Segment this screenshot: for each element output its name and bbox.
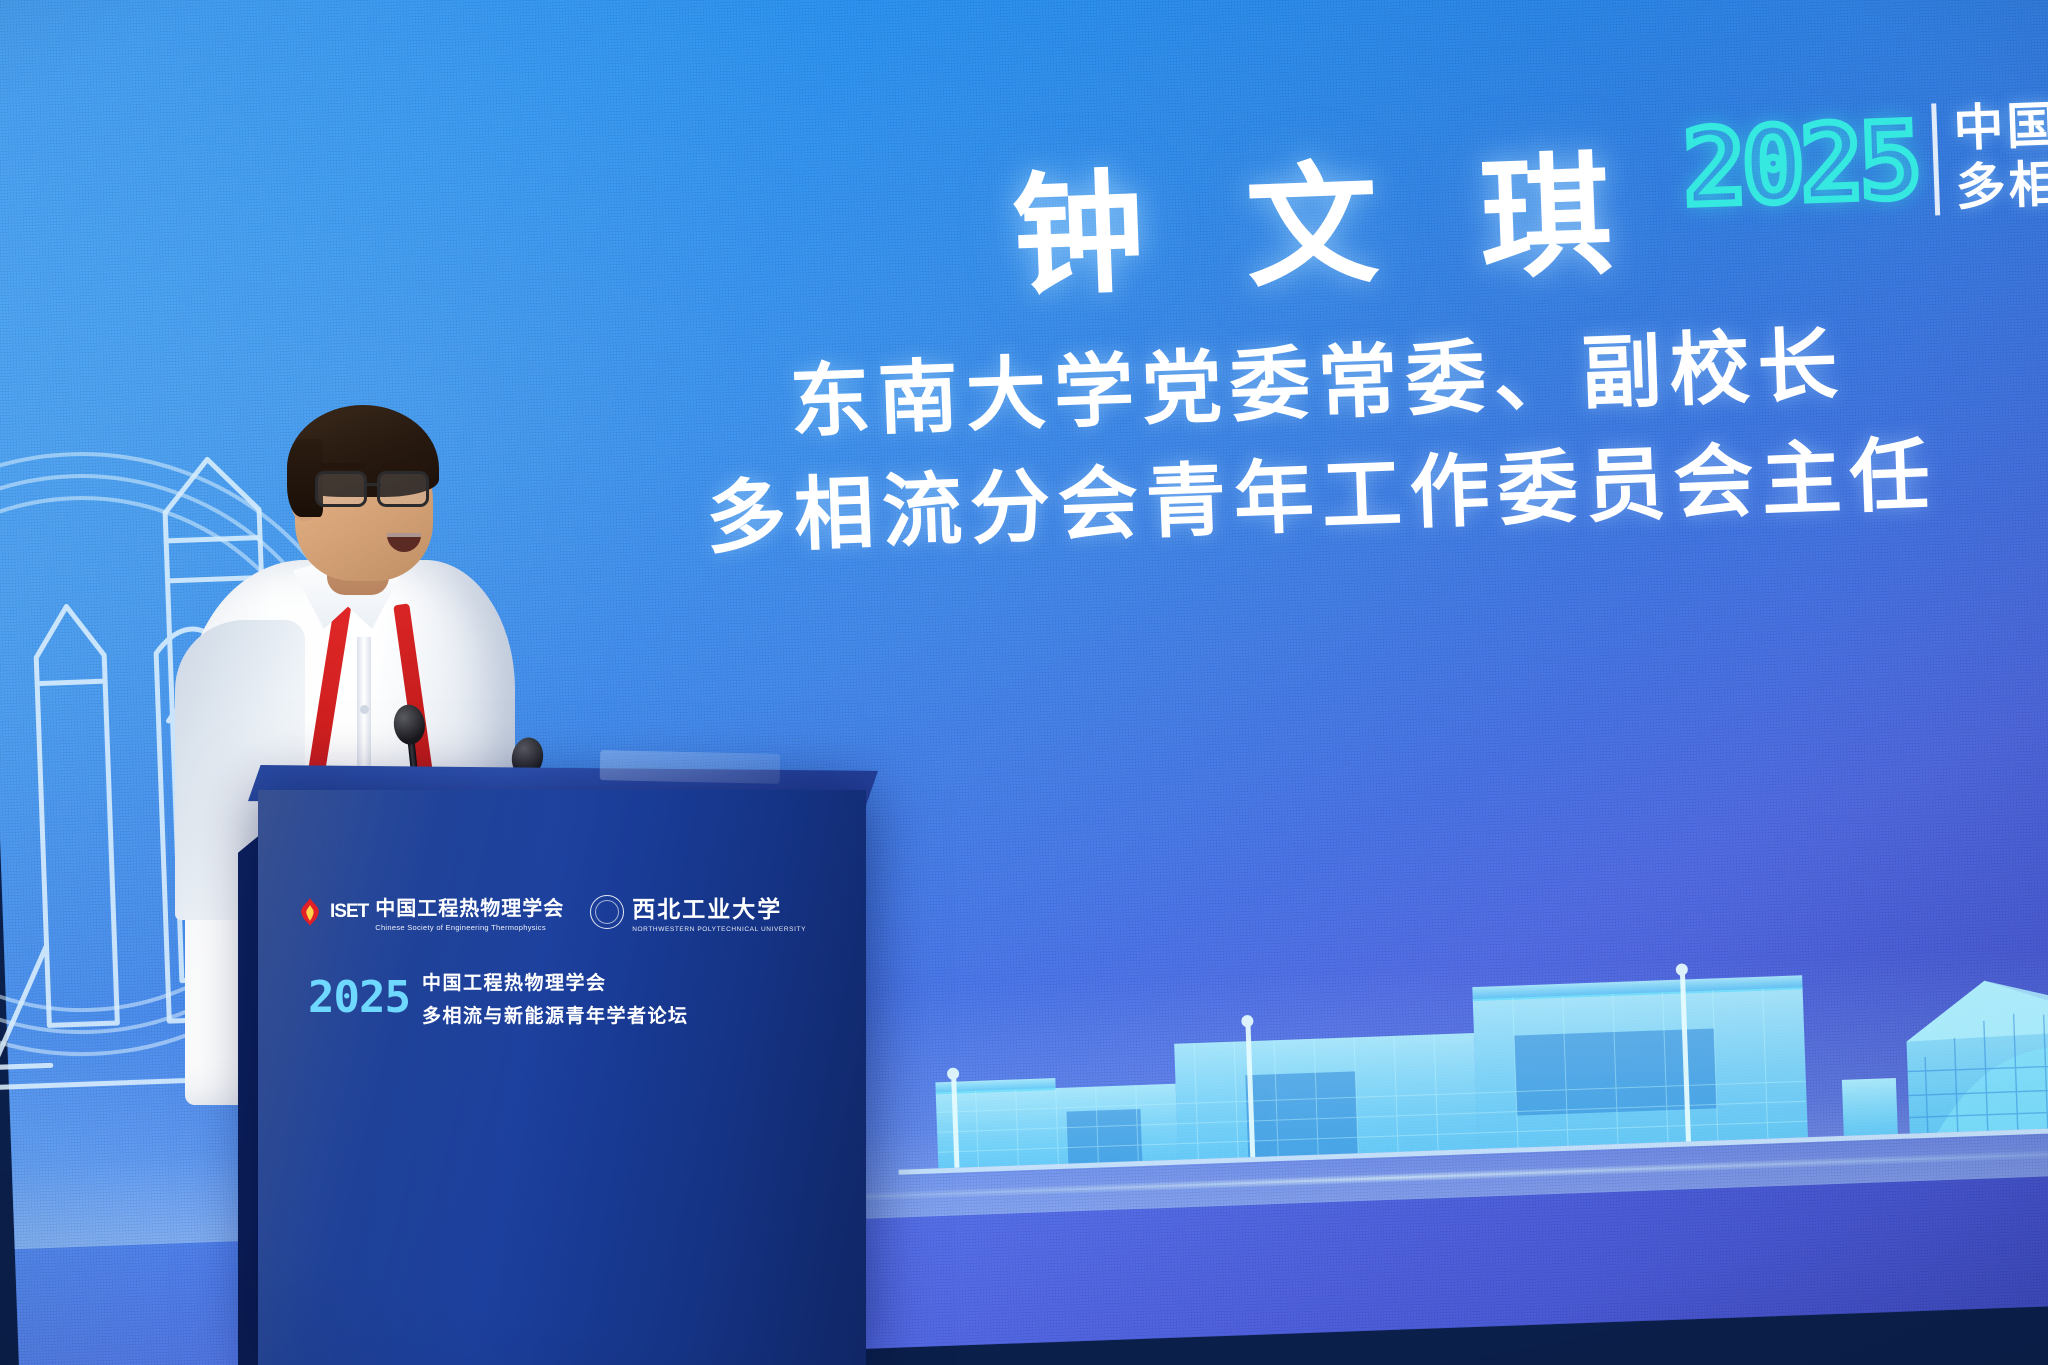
conference-photo-stage: 钟 文 琪 东南大学党委常委、副校长 多相流分会青年工作委员会主任 2025 中… xyxy=(0,0,2048,1365)
university-name-en: NORTHWESTERN POLYTECHNICAL UNIVERSITY xyxy=(632,926,806,933)
podium-front-panel: ISET 中国工程热物理学会 Chinese Society of Engine… xyxy=(258,790,866,1365)
wall-logo-org: 中国 多相 xyxy=(1952,96,2048,218)
flame-mark-icon xyxy=(298,898,323,926)
society-logo: ISET 中国工程热物理学会 Chinese Society of Engine… xyxy=(298,892,564,932)
shirt-button xyxy=(360,705,369,714)
forum-branding: 2025 中国工程热物理学会 多相流与新能源青年学者论坛 xyxy=(308,968,688,1028)
podium-logo-row: ISET 中国工程热物理学会 Chinese Society of Engine… xyxy=(298,890,828,933)
wall-logo-org-line-2: 多相 xyxy=(1954,155,2048,218)
society-names: 中国工程热物理学会 Chinese Society of Engineering… xyxy=(375,892,564,932)
forum-title-line-2: 多相流与新能源青年学者论坛 xyxy=(422,1001,689,1028)
society-name-cn: 中国工程热物理学会 xyxy=(375,892,564,921)
university-logo: 西北工业大学 NORTHWESTERN POLYTECHNICAL UNIVER… xyxy=(590,890,806,933)
forum-title-line-1: 中国工程热物理学会 xyxy=(422,968,689,995)
speaker-eyebrow xyxy=(383,463,427,469)
society-name-en: Chinese Society of Engineering Thermophy… xyxy=(375,923,564,932)
wall-logo-divider xyxy=(1931,103,1940,215)
forum-year: 2025 xyxy=(308,976,410,1020)
university-names: 西北工业大学 NORTHWESTERN POLYTECHNICAL UNIVER… xyxy=(632,890,806,933)
university-seal-icon xyxy=(590,895,624,929)
society-abbr: ISET xyxy=(330,901,368,923)
forum-title-group: 中国工程热物理学会 多相流与新能源青年学者论坛 xyxy=(422,968,689,1028)
wall-logo-year: 2025 xyxy=(1681,108,1919,220)
eyeglass-bridge xyxy=(365,483,381,486)
wall-corner-logo: 2025 中国 多相 xyxy=(1681,96,2048,227)
speaker-eyebrow xyxy=(321,463,365,469)
eyeglass-lens-right xyxy=(377,471,429,507)
podium-glass-plate xyxy=(600,750,781,784)
university-name-cn: 西北工业大学 xyxy=(632,890,806,924)
wall-logo-org-line-1: 中国 xyxy=(1952,96,2048,159)
eyeglass-lens-left xyxy=(315,471,367,507)
podium-highlight xyxy=(258,790,866,1365)
eyeglasses-icon xyxy=(315,471,439,511)
